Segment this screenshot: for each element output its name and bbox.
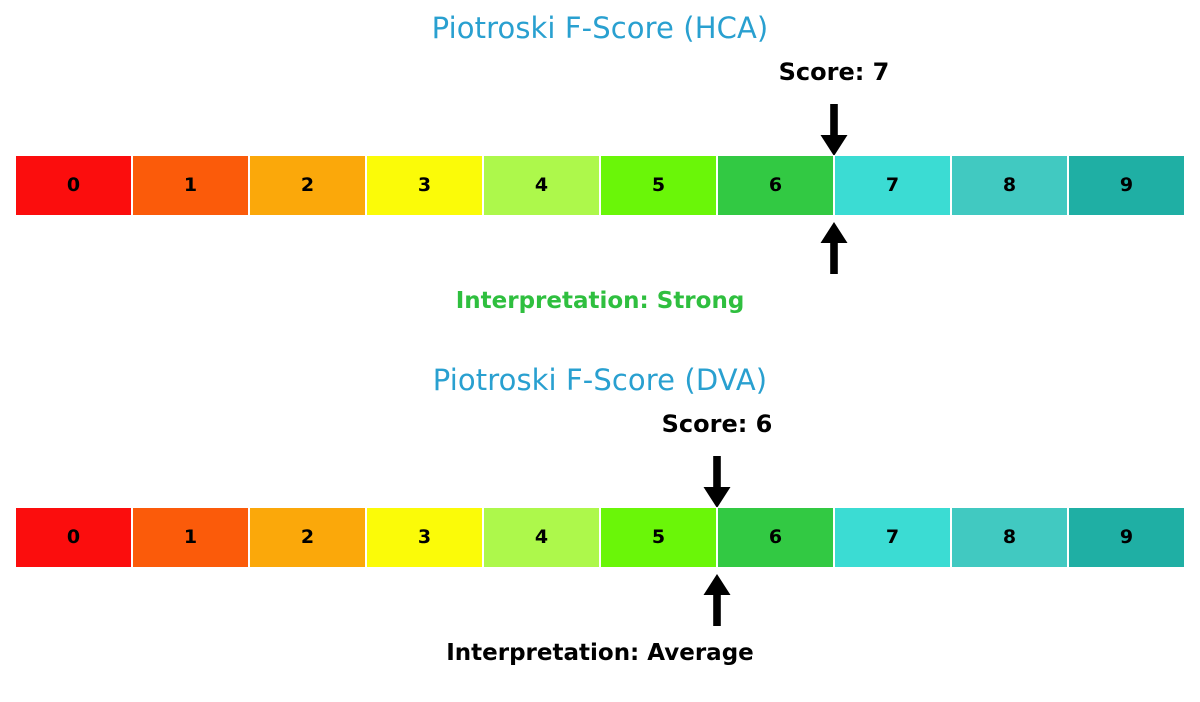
gauge-segment-3[interactable]: 3	[366, 155, 483, 216]
gauge-segment-label: 9	[1120, 528, 1133, 547]
score-marker-down-arrow-hca	[817, 104, 851, 156]
gauge-segment-1[interactable]: 1	[132, 507, 249, 568]
gauge-segment-4[interactable]: 4	[483, 155, 600, 216]
gauge-segment-label: 7	[886, 528, 899, 547]
gauge-segment-label: 5	[652, 528, 665, 547]
gauge-segment-8[interactable]: 8	[951, 155, 1068, 216]
gauge-segment-label: 4	[535, 528, 548, 547]
gauge-segment-label: 6	[769, 528, 782, 547]
gauge-segment-0[interactable]: 0	[15, 155, 132, 216]
score-label-dva: Score: 6	[662, 410, 773, 438]
gauge-segment-label: 0	[67, 176, 80, 195]
fscore-gauge-hca: 0123456789	[15, 155, 1185, 216]
page-title-hca: Piotroski F-Score (HCA)	[0, 11, 1200, 45]
score-label-hca: Score: 7	[779, 58, 890, 86]
gauge-segment-1[interactable]: 1	[132, 155, 249, 216]
gauge-segment-6[interactable]: 6	[717, 507, 834, 568]
gauge-segment-4[interactable]: 4	[483, 507, 600, 568]
gauge-segment-8[interactable]: 8	[951, 507, 1068, 568]
fscore-panel-hca: Piotroski F-Score (HCA) Score: 7 0123456…	[0, 0, 1200, 345]
gauge-segment-label: 2	[301, 176, 314, 195]
gauge-segment-0[interactable]: 0	[15, 507, 132, 568]
gauge-segment-label: 2	[301, 528, 314, 547]
score-marker-up-arrow-dva	[700, 574, 734, 626]
gauge-segment-label: 5	[652, 176, 665, 195]
score-marker-down-arrow-dva	[700, 456, 734, 508]
gauge-segment-9[interactable]: 9	[1068, 155, 1185, 216]
gauge-segment-5[interactable]: 5	[600, 507, 717, 568]
gauge-segment-label: 0	[67, 528, 80, 547]
gauge-segment-label: 1	[184, 176, 197, 195]
gauge-segment-label: 8	[1003, 528, 1016, 547]
gauge-segment-label: 3	[418, 528, 431, 547]
gauge-segment-label: 3	[418, 176, 431, 195]
interpretation-text-dva: Interpretation: Average	[0, 640, 1200, 666]
fscore-panel-dva: Piotroski F-Score (DVA) Score: 6 0123456…	[0, 352, 1200, 702]
gauge-segment-3[interactable]: 3	[366, 507, 483, 568]
score-marker-up-arrow-hca	[817, 222, 851, 274]
gauge-segment-2[interactable]: 2	[249, 155, 366, 216]
gauge-segment-7[interactable]: 7	[834, 507, 951, 568]
gauge-segment-label: 4	[535, 176, 548, 195]
gauge-segment-6[interactable]: 6	[717, 155, 834, 216]
gauge-segment-label: 6	[769, 176, 782, 195]
gauge-segment-label: 7	[886, 176, 899, 195]
fscore-gauge-dva: 0123456789	[15, 507, 1185, 568]
gauge-segment-2[interactable]: 2	[249, 507, 366, 568]
interpretation-text-hca: Interpretation: Strong	[0, 288, 1200, 314]
page-title-dva: Piotroski F-Score (DVA)	[0, 363, 1200, 397]
gauge-segment-label: 1	[184, 528, 197, 547]
gauge-segment-7[interactable]: 7	[834, 155, 951, 216]
gauge-segment-label: 8	[1003, 176, 1016, 195]
gauge-segment-label: 9	[1120, 176, 1133, 195]
gauge-segment-5[interactable]: 5	[600, 155, 717, 216]
gauge-segment-9[interactable]: 9	[1068, 507, 1185, 568]
